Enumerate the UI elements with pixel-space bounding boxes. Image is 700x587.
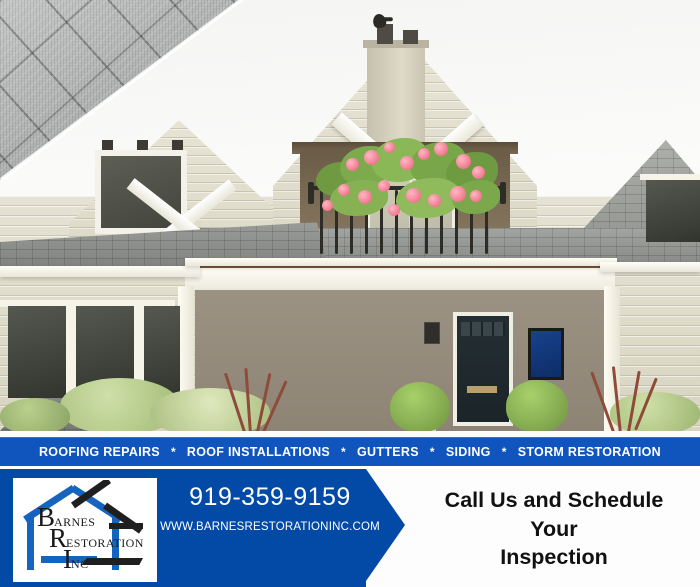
logo-word-inc: NC bbox=[71, 557, 88, 571]
window-header bbox=[640, 174, 700, 180]
services-bar: ROOFING REPAIRS * ROOF INSTALLATIONS * G… bbox=[0, 437, 700, 466]
porch-lantern-icon bbox=[424, 322, 440, 344]
service-separator: * bbox=[495, 445, 514, 459]
house-photo bbox=[0, 0, 700, 431]
window-mullion bbox=[66, 306, 76, 398]
service-item-roofing-repairs[interactable]: ROOFING REPAIRS bbox=[35, 445, 164, 459]
left-window bbox=[8, 306, 66, 398]
cta-line-2: Your bbox=[530, 515, 577, 543]
service-item-storm-restoration[interactable]: STORM RESTORATION bbox=[514, 445, 665, 459]
flower-box bbox=[310, 128, 510, 224]
eave-fascia bbox=[185, 258, 617, 266]
service-separator: * bbox=[164, 445, 183, 459]
porch-ceiling bbox=[185, 268, 615, 290]
company-logo[interactable]: BARNES RESTORATION INC bbox=[13, 478, 157, 582]
eave-fascia bbox=[600, 262, 700, 272]
chimney-flue bbox=[403, 30, 418, 44]
eave-fascia bbox=[0, 266, 200, 277]
roofing-company-ad: ROOFING REPAIRS * ROOF INSTALLATIONS * G… bbox=[0, 0, 700, 587]
contact-info: 919-359-9159 WWW.BARNESRESTORATIONINC.CO… bbox=[150, 483, 390, 533]
service-separator: * bbox=[334, 445, 353, 459]
porch-plant bbox=[390, 382, 450, 431]
cta-line-3: Inspection bbox=[500, 543, 608, 571]
logo-wordmark: BARNES RESTORATION INC bbox=[37, 504, 153, 566]
service-item-gutters[interactable]: GUTTERS bbox=[353, 445, 423, 459]
website-url[interactable]: WWW.BARNESRESTORATIONINC.COM bbox=[150, 521, 390, 533]
front-door bbox=[453, 312, 513, 426]
right-window bbox=[646, 180, 700, 242]
shrub bbox=[610, 392, 700, 431]
call-to-action: Call Us and Schedule Your Inspection bbox=[408, 477, 700, 581]
phone-number[interactable]: 919-359-9159 bbox=[150, 483, 390, 512]
wall-artwork bbox=[528, 328, 564, 380]
door-kickplate bbox=[467, 386, 497, 393]
cta-line-1: Call Us and Schedule bbox=[445, 486, 664, 514]
service-item-roof-installations[interactable]: ROOF INSTALLATIONS bbox=[183, 445, 334, 459]
door-window-lites bbox=[461, 322, 505, 336]
footer-band: BARNES RESTORATION INC 919-359-9159 WWW.… bbox=[0, 469, 700, 587]
logo-initial-i: I bbox=[63, 544, 71, 574]
shrub bbox=[0, 398, 70, 431]
service-separator: * bbox=[423, 445, 442, 459]
service-item-siding[interactable]: SIDING bbox=[442, 445, 495, 459]
chimney-cap bbox=[363, 40, 429, 48]
porch-plant bbox=[506, 380, 568, 431]
shrub bbox=[150, 388, 270, 431]
